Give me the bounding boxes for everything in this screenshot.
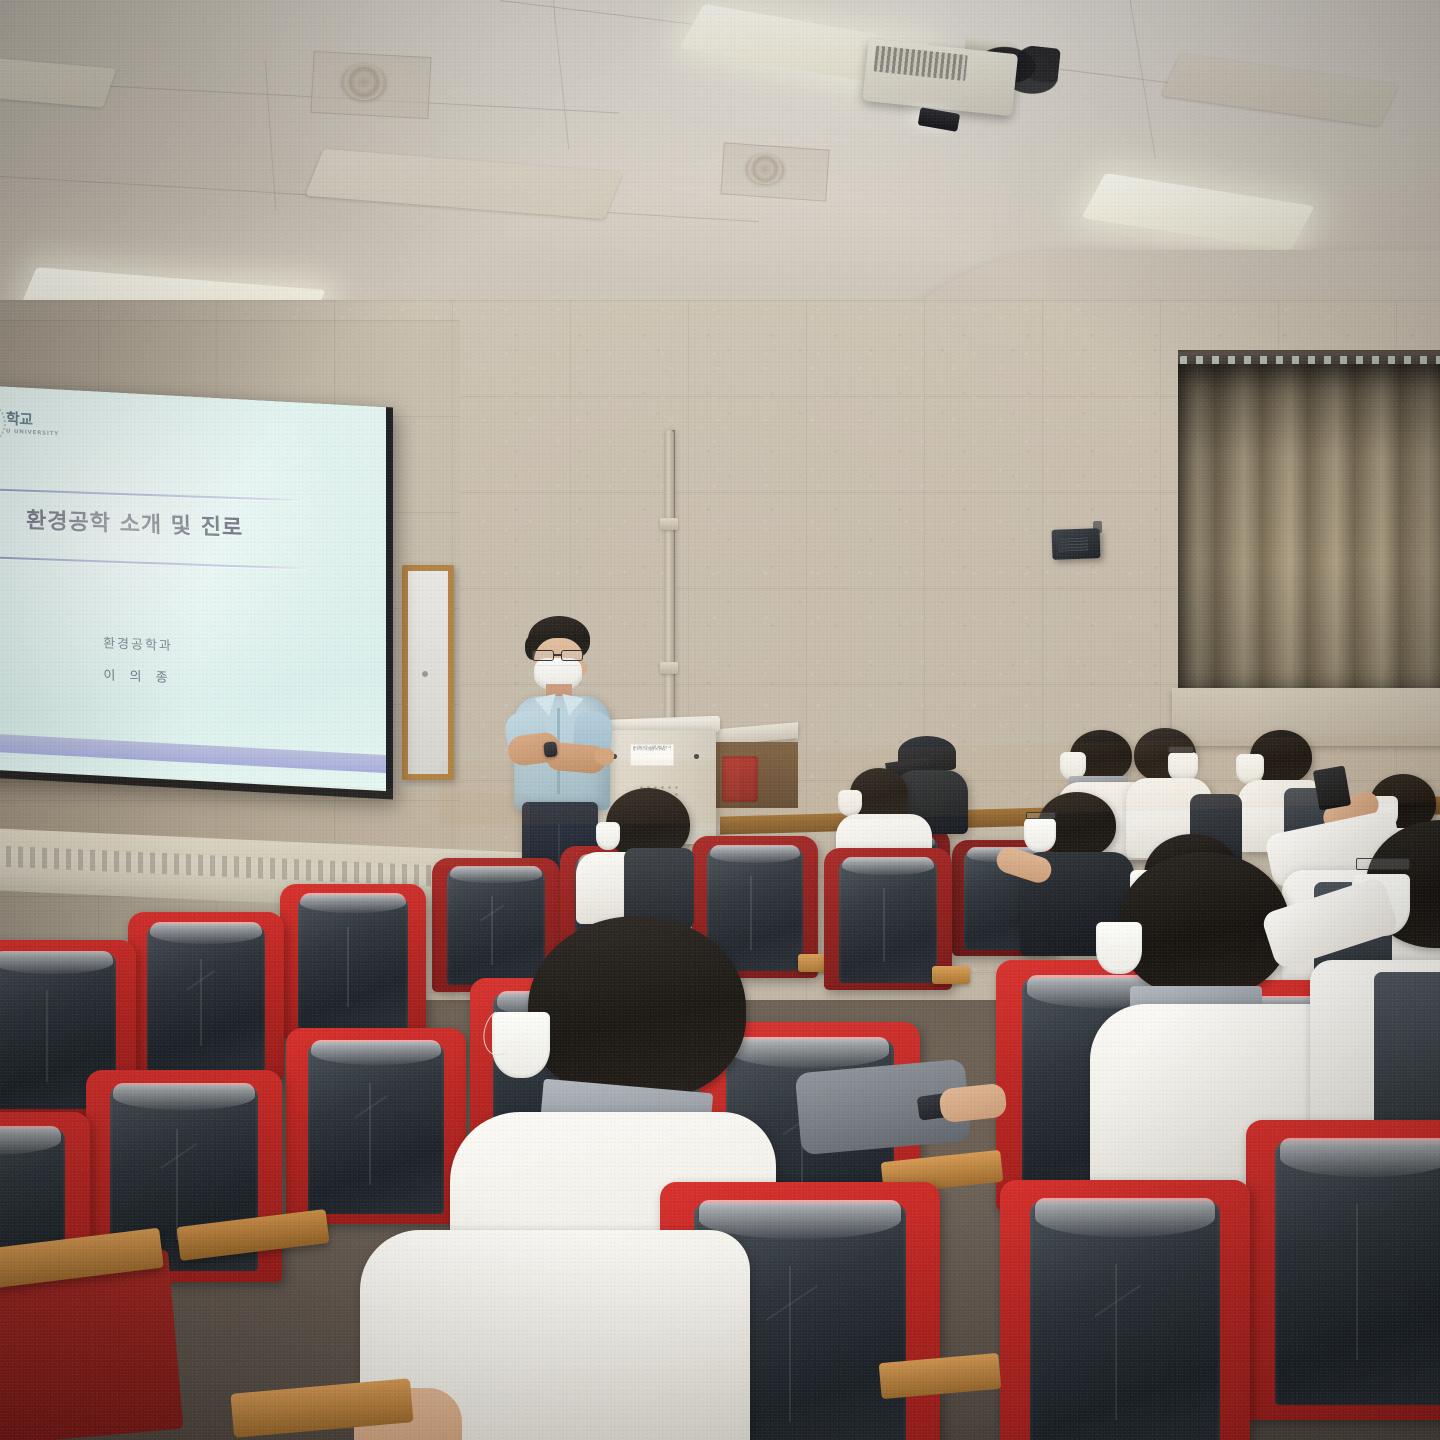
- glasses-lens-left: [532, 650, 554, 661]
- seat-crease: [176, 1129, 178, 1239]
- seat-highlight: [699, 1200, 901, 1239]
- eyeglasses-icon: [1026, 812, 1056, 819]
- slide-rule-bottom: [0, 555, 307, 569]
- seat-crease: [46, 990, 48, 1083]
- window-curtain[interactable]: [1178, 364, 1440, 696]
- seat-panel: [447, 867, 544, 985]
- seat-crease: [200, 959, 202, 1046]
- speaker-grille: [1058, 537, 1088, 552]
- slide-rule-top: [0, 487, 302, 501]
- eyeglasses-icon: [1356, 858, 1410, 870]
- seat-highlight: [450, 866, 542, 883]
- seat-highlight: [842, 857, 934, 875]
- seat-crease: [491, 896, 493, 966]
- university-logo: 학교 U UNIVERSITY: [0, 400, 59, 447]
- face-mask: [1024, 818, 1056, 852]
- seat-crease: [347, 927, 349, 1007]
- seat-panel: [839, 858, 936, 983]
- face-mask: [838, 790, 862, 816]
- presentation-slide: 학교 U UNIVERSITY 환경공학 소개 및 진로 환경공학과 이 의 종: [0, 384, 386, 791]
- seat-crease: [369, 1083, 371, 1185]
- projection-screen-frame: 학교 U UNIVERSITY 환경공학 소개 및 진로 환경공학과 이 의 종: [0, 384, 393, 799]
- logo-wordmark: 학교 U UNIVERSITY: [6, 412, 59, 438]
- wall-speaker: [1051, 528, 1100, 560]
- projector-vent: [874, 46, 968, 81]
- window-sill: [1172, 688, 1440, 746]
- auditorium-seat[interactable]: [280, 884, 426, 1038]
- logo-ring: [0, 400, 6, 444]
- seat-highlight: [710, 845, 801, 863]
- seat-highlight: [1035, 1198, 1215, 1237]
- podium-notice-label: AV 장비 사용 시 전원 확인 필수 사용 후 반드시 전원을 꺼 주세요: [630, 744, 674, 766]
- smartphone[interactable]: [1313, 766, 1351, 811]
- whiteboard: [402, 565, 454, 780]
- presenter-wristwatch: [543, 741, 557, 757]
- logo-korean-text: 학교: [6, 412, 59, 431]
- slide-title: 환경공학 소개 및 진로: [26, 503, 327, 546]
- fold-out-tablet-arm[interactable]: [932, 966, 970, 984]
- auditorium-seat[interactable]: [1246, 1120, 1440, 1420]
- seat-highlight: [0, 951, 113, 974]
- seat-panel: [308, 1042, 445, 1214]
- logo-english-text: U UNIVERSITY: [6, 430, 59, 439]
- projection-screen: 학교 U UNIVERSITY 환경공학 소개 및 진로 환경공학과 이 의 종: [0, 384, 386, 791]
- lecture-hall-photo: 학교 U UNIVERSITY 환경공학 소개 및 진로 환경공학과 이 의 종: [0, 0, 1440, 1440]
- slide-department: 환경공학과: [0, 627, 308, 658]
- seat-crease: [750, 876, 752, 950]
- slide-footer-band: [0, 732, 386, 773]
- podium-fastener: [694, 754, 699, 759]
- conduit-clip: [660, 518, 678, 530]
- seat-panel: [147, 924, 266, 1072]
- seat-highlight: [311, 1040, 441, 1065]
- face-mask: [596, 822, 620, 850]
- seat-panel: [298, 895, 409, 1031]
- podium-notice-text: AV 장비 사용 시 전원 확인 필수 사용 후 반드시 전원을 꺼 주세요: [633, 747, 671, 752]
- glasses-bridge: [554, 654, 562, 656]
- presenter-glasses-icon: [531, 650, 587, 661]
- curtain-shading: [1178, 364, 1440, 696]
- slide-presenter-name: 이 의 종: [0, 659, 308, 690]
- seat-crease: [789, 1266, 791, 1422]
- glasses-lens-right: [561, 650, 583, 661]
- conduit-clip: [660, 662, 678, 674]
- seat-highlight: [150, 922, 262, 944]
- auditorium-seat[interactable]: [824, 848, 952, 990]
- whiteboard-knob: [422, 671, 428, 677]
- auditorium-seat[interactable]: [1000, 1180, 1250, 1440]
- background-chair: [722, 756, 758, 802]
- student-head: [528, 916, 746, 1100]
- eyeglasses-icon: [1168, 746, 1194, 753]
- seat-crease: [883, 888, 885, 962]
- seat-crease: [1356, 1204, 1358, 1360]
- auditorium-seat[interactable]: [128, 912, 284, 1080]
- seat-highlight: [113, 1083, 254, 1111]
- seat-crease: [1115, 1264, 1117, 1420]
- auditorium-seat[interactable]: [286, 1028, 466, 1224]
- seat-highlight: [1280, 1138, 1440, 1177]
- face-mask: [1096, 922, 1142, 974]
- leaf-emblem-icon: [0, 400, 6, 444]
